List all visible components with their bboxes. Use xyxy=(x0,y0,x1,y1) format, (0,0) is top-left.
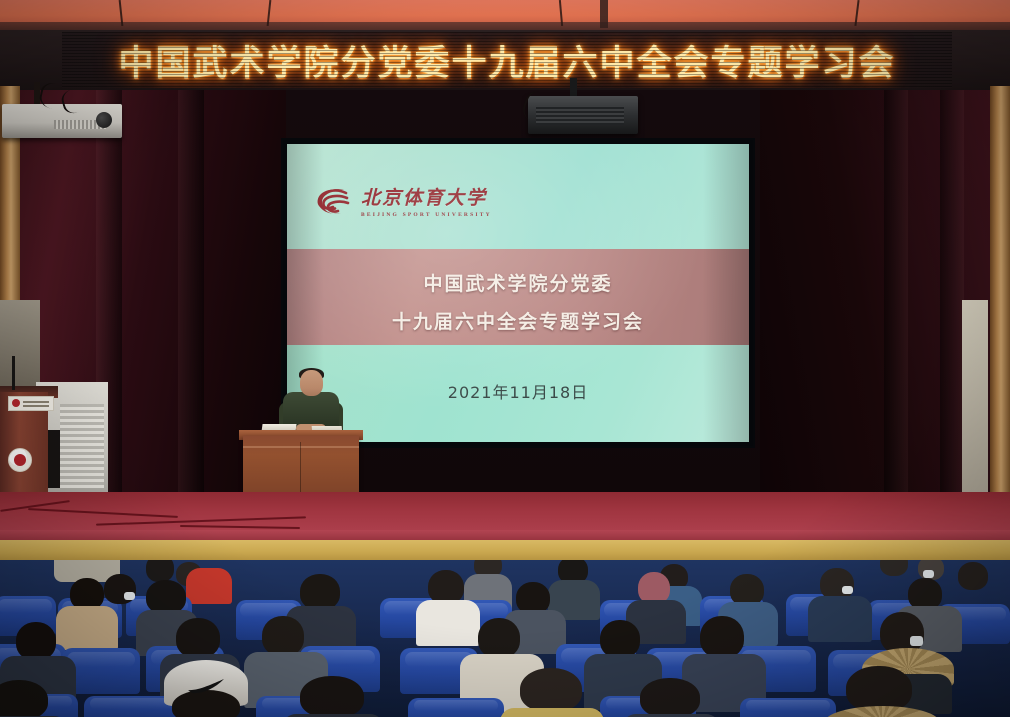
projection-screen: 北京体育大学 BEIJING SPORT UNIVERSITY 中国武术学院分党… xyxy=(287,144,749,442)
audience-body xyxy=(186,568,232,604)
audience-head xyxy=(146,580,186,614)
podium-seal-emblem-icon xyxy=(8,448,32,472)
logo-text-group: 北京体育大学 BEIJING SPORT UNIVERSITY xyxy=(361,189,492,218)
audience-head xyxy=(146,560,174,582)
audience-head xyxy=(478,618,520,658)
face-mask xyxy=(842,586,853,594)
audience-head xyxy=(520,668,582,712)
audience-head xyxy=(172,690,240,717)
face-mask xyxy=(124,592,135,600)
suspension-rod xyxy=(600,0,608,28)
audience-head xyxy=(600,620,640,658)
audience-head xyxy=(300,574,340,610)
projector-mount-center xyxy=(570,78,577,98)
audience-body xyxy=(56,606,118,650)
curtain-fold xyxy=(884,90,908,498)
slide-title-line-1: 中国武术学院分党委 xyxy=(287,269,749,296)
audience-head xyxy=(176,618,220,658)
stage-left-wall-panel xyxy=(0,300,40,392)
back-wall-strip-right xyxy=(962,300,988,498)
audience-area xyxy=(0,560,1010,717)
audience-head xyxy=(0,680,48,717)
audience-head xyxy=(958,562,988,590)
auditorium-seat[interactable] xyxy=(740,698,836,717)
curtain-fold xyxy=(178,90,204,498)
audience-head xyxy=(428,570,464,604)
curtain-fold xyxy=(940,90,964,498)
audience-head xyxy=(700,616,744,658)
university-logo: 北京体育大学 BEIJING SPORT UNIVERSITY xyxy=(314,186,492,220)
audience-head xyxy=(262,616,304,656)
led-banner-text: 中国武术学院分党委十九届六中全会专题学习会 xyxy=(118,35,895,86)
face-mask xyxy=(910,636,923,646)
logo-english-name: BEIJING SPORT UNIVERSITY xyxy=(361,212,492,218)
slide-title-line-2: 十九届六中全会专题学习会 xyxy=(287,307,749,334)
microphone-stand xyxy=(12,356,15,390)
slide-date: 2021年11月18日 xyxy=(287,379,749,403)
audience-head xyxy=(16,622,56,660)
logo-chinese-name: 北京体育大学 xyxy=(361,189,492,208)
audience-head xyxy=(640,678,700,717)
swirl-logo-icon xyxy=(314,186,352,220)
audience-head xyxy=(880,560,908,576)
presenter-head xyxy=(300,370,323,396)
audience-head xyxy=(300,676,364,717)
wood-trim-right xyxy=(990,86,1010,498)
podium-plaque-text-lines xyxy=(23,401,49,403)
conference-photo-scene: 中国武术学院分党委十九届六中全会专题学习会 xyxy=(0,0,1010,717)
projector-lens xyxy=(96,112,112,128)
air-conditioner-grille xyxy=(60,404,104,488)
podium-plaque xyxy=(8,396,54,411)
led-banner: 中国武术学院分党委十九届六中全会专题学习会 xyxy=(62,32,952,88)
audience-body xyxy=(500,708,604,717)
presenter-desk-trim xyxy=(243,446,359,448)
auditorium-seat[interactable] xyxy=(408,698,504,717)
face-mask xyxy=(923,570,934,578)
cap-swoosh-icon xyxy=(186,678,226,694)
audience-body xyxy=(808,596,872,642)
presenter-desk-seam xyxy=(300,442,301,498)
audience-body xyxy=(416,600,480,646)
podium-plaque-emblem-icon xyxy=(12,399,20,407)
